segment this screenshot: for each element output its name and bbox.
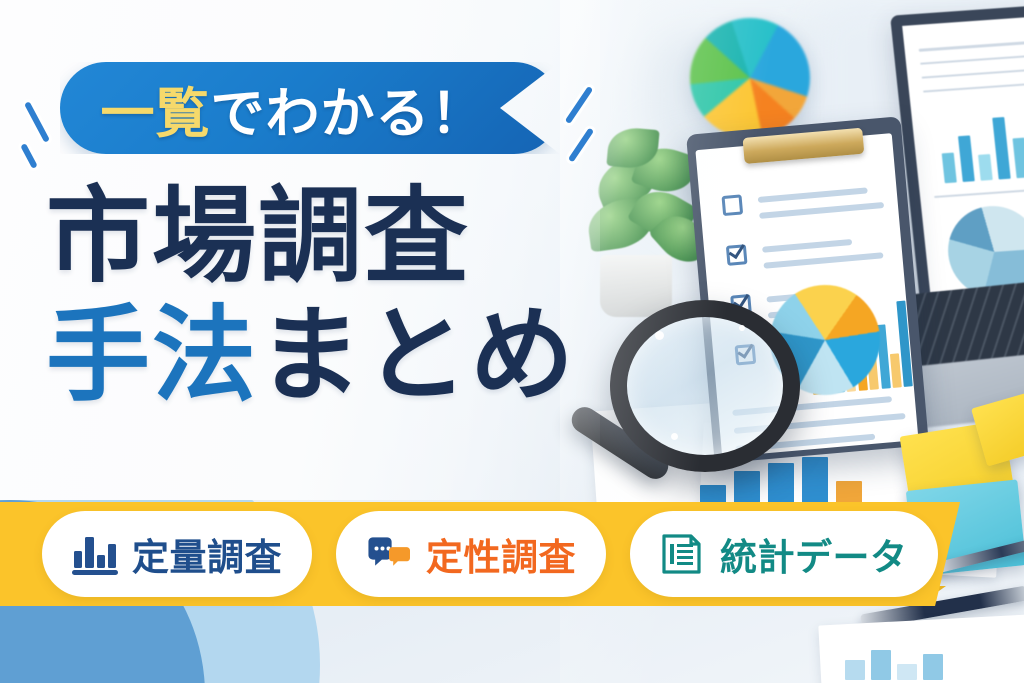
document-list-icon (660, 532, 706, 576)
pill-label-statistics: 統計データ (720, 527, 908, 581)
pill-statistics[interactable]: 統計データ (630, 511, 938, 597)
pill-quantitative[interactable]: 定量調査 (42, 511, 312, 597)
checkbox-checked (726, 244, 748, 266)
eyecatch-badge: 一覧でわかる！ (60, 62, 560, 154)
banner-canvas: 一覧でわかる！ 市場調査 手法まとめ 定量調査 (0, 0, 1024, 683)
plant-pot (600, 255, 672, 317)
badge-text-highlight: 一覧 (101, 84, 211, 144)
headline-line-2-blue: 手法 (46, 298, 258, 414)
pill-qualitative[interactable]: 定性調査 (336, 511, 606, 597)
badge-ribbon: 一覧でわかる！ (60, 62, 560, 154)
headline-line-2-navy: まとめ (258, 298, 576, 414)
badge-text-rest: でわかる！ (211, 84, 486, 144)
badge-text: 一覧でわかる！ (101, 69, 520, 148)
pill-row: 定量調査 定性調査 統計データ (0, 505, 960, 603)
speech-bubbles-icon (366, 532, 412, 576)
clipboard-clip (743, 128, 865, 164)
magnifier-lens (610, 300, 800, 472)
headline-line-2: 手法まとめ (46, 297, 576, 416)
bar-chart-icon (72, 532, 118, 576)
pill-label-qualitative: 定性調査 (426, 527, 576, 581)
headline-block: 市場調査 手法まとめ (46, 178, 576, 415)
pill-label-quantitative: 定量調査 (132, 527, 282, 581)
pie-chart-photo (690, 18, 810, 138)
checkbox-empty (721, 194, 743, 216)
headline-line-1: 市場調査 (46, 178, 576, 297)
